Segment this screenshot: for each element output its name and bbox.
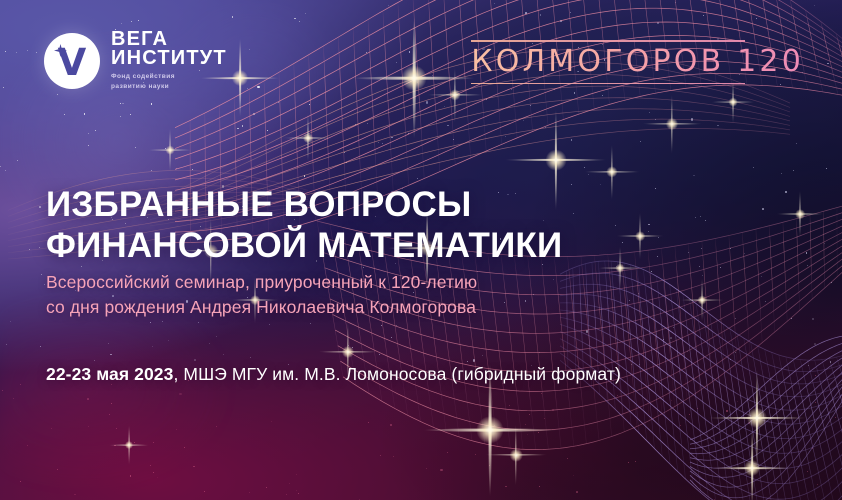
kolmogorov-rule-top — [471, 40, 745, 42]
vega-name-line2: ИНСТИТУТ — [111, 49, 227, 68]
event-dateline: 22-23 мая 2023, МШЭ МГУ им. М.В. Ломонос… — [46, 364, 621, 385]
vega-logo-text: ВЕГА ИНСТИТУТ Фонд содействия развитию н… — [111, 30, 227, 91]
vega-tagline-line2: развитию науки — [111, 83, 169, 90]
event-subtitle: Всероссийский семинар, приуроченный к 12… — [46, 270, 477, 320]
vega-institute-logo[interactable]: V ВЕГА ИНСТИТУТ Фонд содействия развитию… — [44, 30, 227, 91]
page-title: ИЗБРАННЫЕ ВОПРОСЫ ФИНАНСОВОЙ МАТЕМАТИКИ — [46, 185, 562, 266]
event-poster: V ВЕГА ИНСТИТУТ Фонд содействия развитию… — [0, 0, 842, 500]
kolmogorov-logo-text: КОЛМОГОРОВ 120 — [471, 42, 804, 83]
kolmogorov-120-logo[interactable]: КОЛМОГОРОВ 120 — [471, 40, 804, 84]
vega-tagline-line1: Фонд содействия — [111, 73, 175, 80]
kolmogorov-rule-bottom — [471, 83, 745, 85]
subtitle-line1: Всероссийский семинар, приуроченный к 12… — [46, 272, 477, 292]
subtitle-line2: со дня рождения Андрея Николаевича Колмо… — [46, 295, 477, 320]
event-date: 22-23 мая 2023 — [46, 364, 173, 384]
sparkle-icon — [54, 44, 67, 57]
vega-logo-mark: V — [44, 33, 100, 89]
title-line2: ФИНАНСОВОЙ МАТЕМАТИКИ — [46, 226, 562, 267]
title-line1: ИЗБРАННЫЕ ВОПРОСЫ — [46, 185, 472, 224]
vega-tagline: Фонд содействия развитию науки — [111, 72, 227, 91]
event-venue: , МШЭ МГУ им. М.В. Ломоносова (гибридный… — [173, 364, 620, 384]
